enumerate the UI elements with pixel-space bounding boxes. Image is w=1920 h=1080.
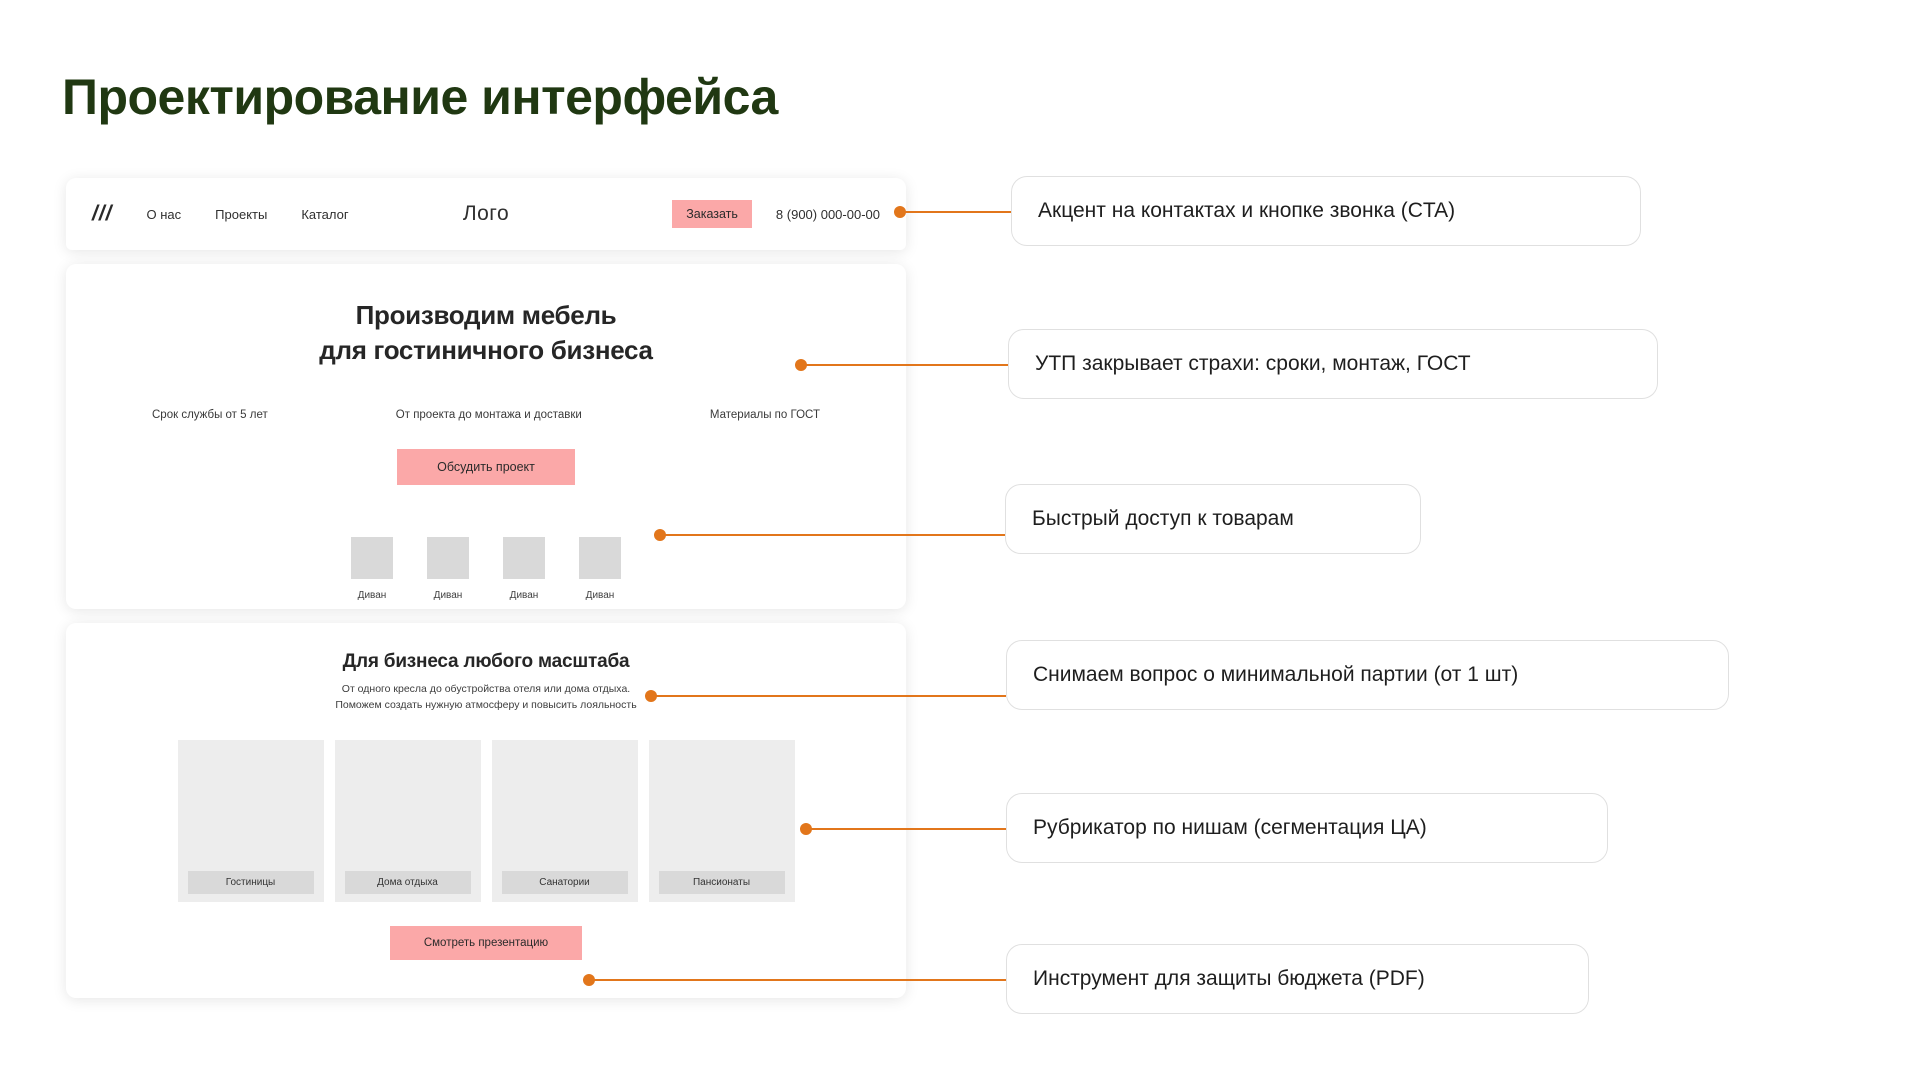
segments-heading: Для бизнеса любого масштаба: [343, 651, 630, 673]
hero-heading: Производим мебель для гостиничного бизне…: [319, 298, 652, 367]
website-mockup: /// О нас Проекты Каталог Лого Заказать …: [66, 178, 906, 998]
product-thumbnails-row: Диван Диван Диван Диван: [351, 537, 621, 601]
mockup-hero-section: Производим мебель для гостиничного бизне…: [66, 264, 906, 609]
product-image-placeholder: [427, 537, 469, 579]
nav-link-about[interactable]: О нас: [147, 207, 182, 222]
callout-quick-access: Быстрый доступ к товарам: [1005, 484, 1421, 554]
callout-text: Акцент на контактах и кнопке звонка (CTA…: [1038, 199, 1455, 223]
product-label: Диван: [586, 590, 615, 601]
hero-benefits-row: Срок службы от 5 лет От проекта до монта…: [66, 409, 906, 421]
navbar-links: О нас Проекты Каталог: [147, 207, 349, 222]
callout-text: Рубрикатор по нишам (сегментация ЦА): [1033, 816, 1427, 840]
leader-line-1: [900, 211, 1015, 213]
navbar-right-group: Заказать 8 (900) 000-00-00: [672, 200, 880, 228]
phone-number[interactable]: 8 (900) 000-00-00: [776, 207, 880, 222]
mockup-navbar: /// О нас Проекты Каталог Лого Заказать …: [66, 178, 906, 250]
mockup-segments-section: Для бизнеса любого масштаба От одного кр…: [66, 623, 906, 998]
leader-line-6: [589, 979, 1006, 981]
leader-line-2: [801, 364, 1010, 366]
nav-link-catalog[interactable]: Каталог: [301, 207, 348, 222]
callout-text: УТП закрывает страхи: сроки, монтаж, ГОС…: [1035, 352, 1471, 376]
product-thumbnail[interactable]: Диван: [579, 537, 621, 601]
product-thumbnail[interactable]: Диван: [503, 537, 545, 601]
callout-text: Инструмент для защиты бюджета (PDF): [1033, 967, 1425, 991]
hero-heading-line-1: Производим мебель: [319, 298, 652, 333]
segment-card[interactable]: Санатории: [492, 740, 638, 902]
segment-label: Гостиницы: [188, 871, 314, 894]
segment-card[interactable]: Пансионаты: [649, 740, 795, 902]
product-image-placeholder: [579, 537, 621, 579]
callout-text: Быстрый доступ к товарам: [1032, 507, 1294, 531]
product-image-placeholder: [503, 537, 545, 579]
product-label: Диван: [358, 590, 387, 601]
view-presentation-button[interactable]: Смотреть презентацию: [390, 926, 582, 960]
product-label: Диван: [434, 590, 463, 601]
order-button[interactable]: Заказать: [672, 200, 752, 228]
callout-min-batch: Снимаем вопрос о минимальной партии (от …: [1006, 640, 1729, 710]
segment-card[interactable]: Гостиницы: [178, 740, 324, 902]
nav-link-projects[interactable]: Проекты: [215, 207, 267, 222]
segments-subtitle-line-2: Поможем создать нужную атмосферу и повыс…: [335, 698, 636, 714]
product-image-placeholder: [351, 537, 393, 579]
benefit-gost: Материалы по ГОСТ: [710, 409, 820, 421]
segment-card[interactable]: Дома отдыха: [335, 740, 481, 902]
callout-cta-contacts: Акцент на контактах и кнопке звонка (CTA…: [1011, 176, 1641, 246]
discuss-project-button[interactable]: Обсудить проект: [397, 449, 575, 485]
three-slashes-logo-icon: ///: [92, 202, 113, 226]
callout-text: Снимаем вопрос о минимальной партии (от …: [1033, 663, 1518, 687]
benefit-lifetime: Срок службы от 5 лет: [152, 409, 268, 421]
segment-label: Пансионаты: [659, 871, 785, 894]
callout-rubricator: Рубрикатор по нишам (сегментация ЦА): [1006, 793, 1608, 863]
segment-label: Дома отдыха: [345, 871, 471, 894]
leader-line-3: [660, 534, 1005, 536]
product-thumbnail[interactable]: Диван: [427, 537, 469, 601]
slide-canvas: Проектирование интерфейса /// О нас Прое…: [0, 0, 1920, 1080]
brand-logo-text: Лого: [426, 202, 546, 226]
callout-pdf-budget: Инструмент для защиты бюджета (PDF): [1006, 944, 1589, 1014]
segment-label: Санатории: [502, 871, 628, 894]
callout-utp: УТП закрывает страхи: сроки, монтаж, ГОС…: [1008, 329, 1658, 399]
leader-line-5: [806, 828, 1006, 830]
benefit-fullcycle: От проекта до монтажа и доставки: [396, 409, 582, 421]
segments-subtitle: От одного кресла до обустройства отеля и…: [335, 682, 636, 714]
page-title: Проектирование интерфейса: [62, 68, 778, 126]
leader-line-4: [651, 695, 1006, 697]
hero-heading-line-2: для гостиничного бизнеса: [319, 333, 652, 368]
segments-grid: Гостиницы Дома отдыха Санатории Пансиона…: [66, 740, 906, 902]
product-label: Диван: [510, 590, 539, 601]
segments-subtitle-line-1: От одного кресла до обустройства отеля и…: [335, 682, 636, 698]
product-thumbnail[interactable]: Диван: [351, 537, 393, 601]
